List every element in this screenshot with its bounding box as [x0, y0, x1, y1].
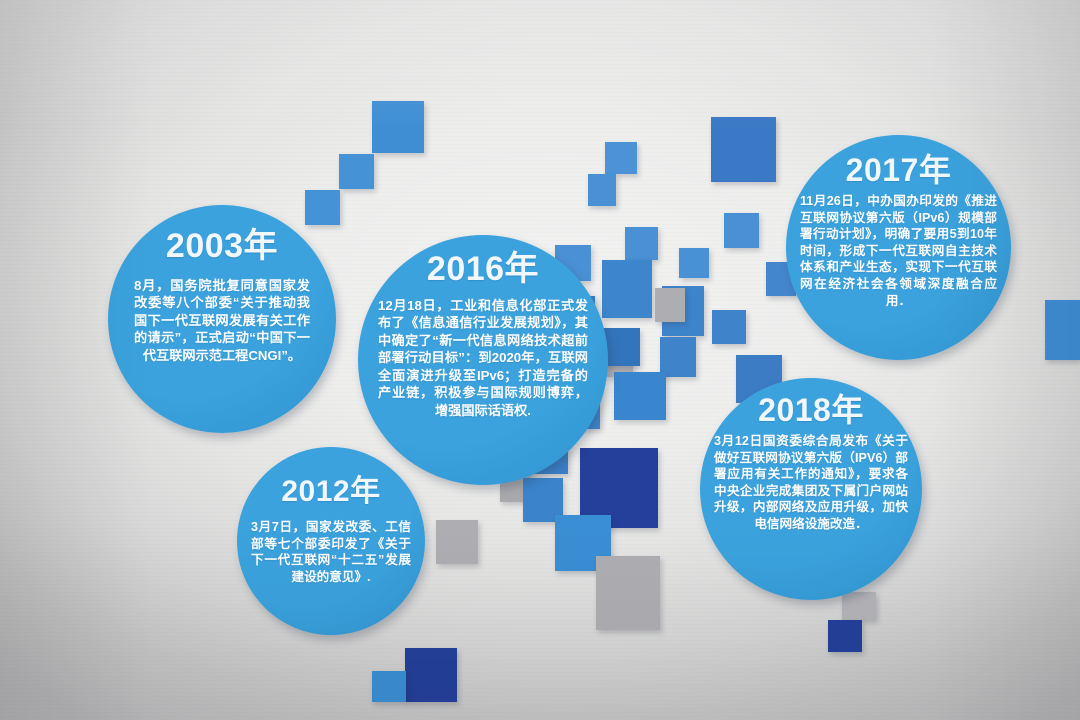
timeline-circle-2017[interactable]: 2017年11月26日，中办国办印发的《推进互联网协议第六版（IPv6）规模部署…	[786, 135, 1011, 360]
tile-gray-sq-right	[596, 556, 660, 630]
tile-ex-1	[679, 248, 709, 278]
timeline-circle-body-2012: 3月7日，国家发改委、工信部等七个部委印发了《关于下一代互联网“十二五”发展建设…	[237, 519, 425, 585]
tile-t-f	[602, 260, 652, 318]
timeline-wall-scene: 2003年8月，国务院批复同意国家发改委等八个部委“关于推动我国下一代互联网发展…	[0, 0, 1080, 720]
tile-t-e	[724, 213, 759, 248]
timeline-circle-2018[interactable]: 2018年3月12日国资委综合局发布《关于做好互联网协议第六版（IPV6）部署应…	[700, 378, 922, 600]
tile-c-d	[712, 310, 746, 344]
timeline-circle-year-2003: 2003年	[108, 229, 336, 263]
tile-edge-right	[1045, 300, 1080, 360]
timeline-circle-year-2017: 2017年	[786, 154, 1011, 186]
tile-c-c	[660, 337, 696, 377]
tile-tl-c	[305, 190, 340, 225]
timeline-circle-body-2018: 3月12日国资委综合局发布《关于做好互联网协议第六版（IPV6）部署应用有关工作…	[700, 433, 922, 533]
tile-t-c	[711, 117, 776, 182]
timeline-circle-year-2018: 2018年	[700, 394, 922, 426]
timeline-circle-body-2017: 11月26日，中办国办印发的《推进互联网协议第六版（IPv6）规模部署行动计划》…	[786, 193, 1011, 309]
tile-t-d	[625, 227, 658, 260]
tile-bl-blue	[372, 671, 406, 702]
tile-r-a	[842, 592, 876, 620]
tile-gray-top	[655, 288, 685, 322]
timeline-circle-body-2016: 12月18日，工业和信息化部正式发布了《信息通信行业发展规划》，其中确定了“新一…	[358, 297, 608, 419]
tile-gray-sq-left	[436, 520, 478, 564]
tile-bl-navy	[405, 648, 457, 702]
timeline-circle-2003[interactable]: 2003年8月，国务院批复同意国家发改委等八个部委“关于推动我国下一代互联网发展…	[108, 205, 336, 433]
tile-tl-a	[372, 101, 424, 153]
timeline-circle-year-2012: 2012年	[237, 477, 425, 507]
timeline-circle-2016[interactable]: 2016年12月18日，工业和信息化部正式发布了《信息通信行业发展规划》，其中确…	[358, 235, 608, 485]
tile-t-a	[605, 142, 637, 174]
tile-tl-b	[339, 154, 374, 189]
tile-t-b	[588, 174, 616, 206]
tile-c-f	[614, 372, 666, 420]
timeline-circle-body-2003: 8月，国务院批复同意国家发改委等八个部委“关于推动我国下一代互联网发展有关工作的…	[108, 277, 336, 364]
timeline-circle-2012[interactable]: 2012年3月7日，国家发改委、工信部等七个部委印发了《关于下一代互联网“十二五…	[237, 447, 425, 635]
tile-r-b	[828, 620, 862, 652]
